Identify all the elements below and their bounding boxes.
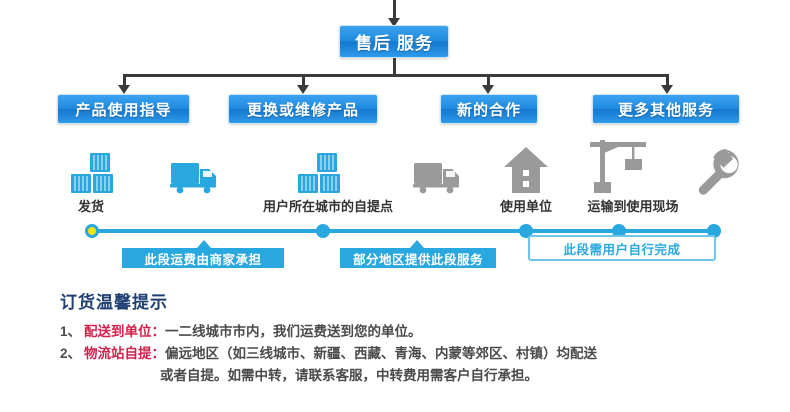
note-keyword-1: 配送到单位：	[84, 324, 165, 339]
cargo-boxes-icon-pickup	[297, 152, 357, 199]
callout-partial-regions: 部分地区提供此段服务	[340, 248, 496, 268]
note-item-1: 1、 配送到单位：一二线城市市内，我们运费送到您的单位。	[60, 321, 760, 342]
note-number-2: 2、	[60, 343, 84, 364]
arrow-leaf-2	[297, 85, 309, 94]
note-continuation-2: 或者自提。如需中转，请联系客服，中转费用需客户自行承担。	[160, 365, 760, 386]
cargo-boxes-icon-shipping	[70, 152, 130, 199]
flow-leaf-product-guide[interactable]: 产品使用指导	[57, 94, 190, 124]
diagram-canvas: 售后 服务 产品使用指导 更换或维修产品 新的合作 更多其他服务	[0, 0, 790, 412]
flow-root-node[interactable]: 售后 服务	[339, 25, 449, 58]
callout-notch-1	[197, 240, 211, 248]
caption-shipping: 发货	[60, 196, 122, 215]
flow-leaf-new-cooperation[interactable]: 新的合作	[440, 94, 538, 124]
arrow-leaf-4	[661, 85, 673, 94]
timeline-dot-1[interactable]	[85, 224, 99, 238]
crane-icon	[578, 140, 652, 199]
note-text-1: 一二线城市市内，我们运费送到您的单位。	[165, 324, 422, 339]
arrow-leaf-3	[482, 85, 494, 94]
note-item-2: 2、 物流站自提：偏远地区（如三线城市、新疆、西藏、青海、内蒙等郊区、村镇）均配…	[60, 343, 760, 364]
arrow-leaf-1	[118, 85, 130, 94]
note-text-2: 偏远地区（如三线城市、新疆、西藏、青海、内蒙等郊区、村镇）均配送	[165, 346, 597, 361]
notes-title: 订货温馨提示	[60, 288, 760, 313]
delivery-truck-icon-gray	[413, 160, 465, 199]
connector-root-top	[393, 0, 396, 20]
order-notes: 订货温馨提示 1、 配送到单位：一二线城市市内，我们运费送到您的单位。 2、 物…	[60, 288, 760, 386]
flow-leaf-more-services[interactable]: 更多其他服务	[592, 94, 740, 124]
caption-using-unit: 使用单位	[493, 196, 559, 215]
connector-bus	[123, 74, 669, 77]
timeline-dot-2[interactable]	[316, 224, 330, 238]
note-keyword-2: 物流站自提：	[84, 346, 165, 361]
delivery-truck-icon-blue	[170, 160, 222, 199]
house-icon	[503, 146, 549, 199]
wrench-icon	[697, 148, 745, 201]
callout-notch-2	[410, 240, 424, 248]
caption-pickup-point: 用户所在城市的自提点	[252, 196, 404, 215]
flow-leaf-replace-repair[interactable]: 更换或维修产品	[228, 94, 378, 124]
note-number-1: 1、	[60, 321, 84, 342]
callout-merchant-pays: 此段运费由商家承担	[122, 248, 284, 268]
caption-transport-to-site: 运输到使用现场	[573, 196, 693, 215]
callout-user-self-complete: 此段需用户自行完成	[528, 235, 716, 261]
